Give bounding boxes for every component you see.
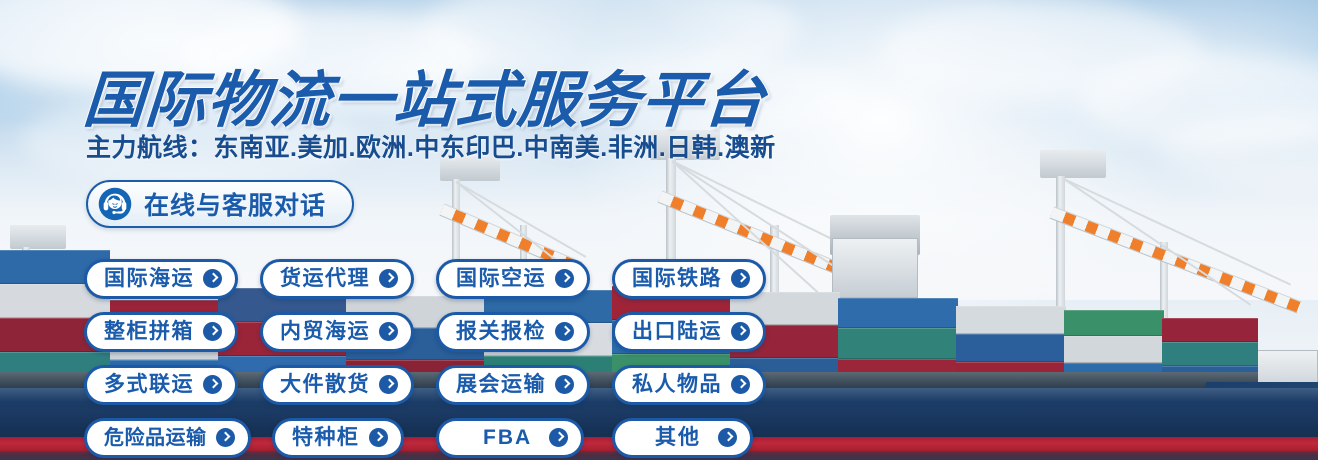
service-button-exhibition-transport[interactable]: 展会运输 xyxy=(436,365,590,405)
arrow-right-circle-icon xyxy=(555,269,574,288)
arrow-right-circle-icon xyxy=(549,428,568,447)
service-label: 出口陆运 xyxy=(632,321,722,342)
service-button-special-container[interactable]: 特种柜 xyxy=(272,418,404,458)
hero-banner: 国际物流一站式服务平台 主力航线：东南亚.美加.欧洲.中东印巴.中南美.非洲.日… xyxy=(0,0,1318,460)
service-button-fcl-lcl[interactable]: 整柜拼箱 xyxy=(84,312,238,352)
service-label: 货运代理 xyxy=(280,268,370,289)
service-row: 多式联运 大件散货 展会运输 私人物品 xyxy=(84,358,788,411)
arrow-right-circle-icon xyxy=(216,428,235,447)
service-button-export-land-transport[interactable]: 出口陆运 xyxy=(612,312,766,352)
arrow-right-circle-icon xyxy=(379,322,398,341)
service-button-customs-declaration[interactable]: 报关报检 xyxy=(436,312,590,352)
service-row: 危险品运输 特种柜 FBA 其他 xyxy=(84,411,788,460)
arrow-right-circle-icon xyxy=(731,375,750,394)
service-row: 整柜拼箱 内贸海运 报关报检 出口陆运 xyxy=(84,305,788,358)
service-label: 私人物品 xyxy=(632,374,722,395)
arrow-right-circle-icon xyxy=(203,269,222,288)
service-button-international-rail[interactable]: 国际铁路 xyxy=(612,259,766,299)
service-label: 整柜拼箱 xyxy=(104,321,194,342)
service-button-others[interactable]: 其他 xyxy=(612,418,753,458)
arrow-right-circle-icon xyxy=(731,322,750,341)
customer-service-headset-icon xyxy=(98,187,132,221)
service-button-freight-forwarding[interactable]: 货运代理 xyxy=(260,259,414,299)
service-button-international-air-freight[interactable]: 国际空运 xyxy=(436,259,590,299)
main-routes-subtitle: 主力航线：东南亚.美加.欧洲.中东印巴.中南美.非洲.日韩.澳新 xyxy=(86,128,776,164)
service-button-grid: 国际海运 货运代理 国际空运 国际铁路 整柜拼 xyxy=(84,252,788,460)
service-label: 特种柜 xyxy=(292,427,360,448)
arrow-right-circle-icon xyxy=(555,375,574,394)
service-button-personal-effects[interactable]: 私人物品 xyxy=(612,365,766,405)
service-button-international-sea-freight[interactable]: 国际海运 xyxy=(84,259,238,299)
arrow-right-circle-icon xyxy=(203,375,222,394)
arrow-right-circle-icon xyxy=(731,269,750,288)
service-label: FBA xyxy=(483,427,540,448)
arrow-right-circle-icon xyxy=(555,322,574,341)
service-button-fba[interactable]: FBA xyxy=(436,418,584,458)
service-button-dangerous-goods[interactable]: 危险品运输 xyxy=(84,418,251,458)
service-label: 报关报检 xyxy=(456,321,546,342)
arrow-right-circle-icon xyxy=(718,428,737,447)
service-label: 其他 xyxy=(655,427,709,448)
service-label: 大件散货 xyxy=(280,374,370,395)
service-label: 多式联运 xyxy=(104,374,194,395)
service-row: 国际海运 货运代理 国际空运 国际铁路 xyxy=(84,252,788,305)
arrow-right-circle-icon xyxy=(203,322,222,341)
service-label: 内贸海运 xyxy=(280,321,370,342)
arrow-right-circle-icon xyxy=(369,428,388,447)
service-label: 展会运输 xyxy=(456,374,546,395)
service-label: 国际铁路 xyxy=(632,268,722,289)
arrow-right-circle-icon xyxy=(379,375,398,394)
service-label: 国际海运 xyxy=(104,268,194,289)
page-title: 国际物流一站式服务平台 xyxy=(81,50,769,139)
banner-content: 国际物流一站式服务平台 主力航线：东南亚.美加.欧洲.中东印巴.中南美.非洲.日… xyxy=(0,0,1318,460)
service-button-multimodal-transport[interactable]: 多式联运 xyxy=(84,365,238,405)
service-label: 国际空运 xyxy=(456,268,546,289)
online-customer-service-button[interactable]: 在线与客服对话 xyxy=(86,180,354,228)
online-customer-service-label: 在线与客服对话 xyxy=(144,186,326,222)
service-label: 危险品运输 xyxy=(104,428,207,448)
arrow-right-circle-icon xyxy=(379,269,398,288)
service-button-domestic-sea-freight[interactable]: 内贸海运 xyxy=(260,312,414,352)
service-button-bulk-oversized-cargo[interactable]: 大件散货 xyxy=(260,365,414,405)
